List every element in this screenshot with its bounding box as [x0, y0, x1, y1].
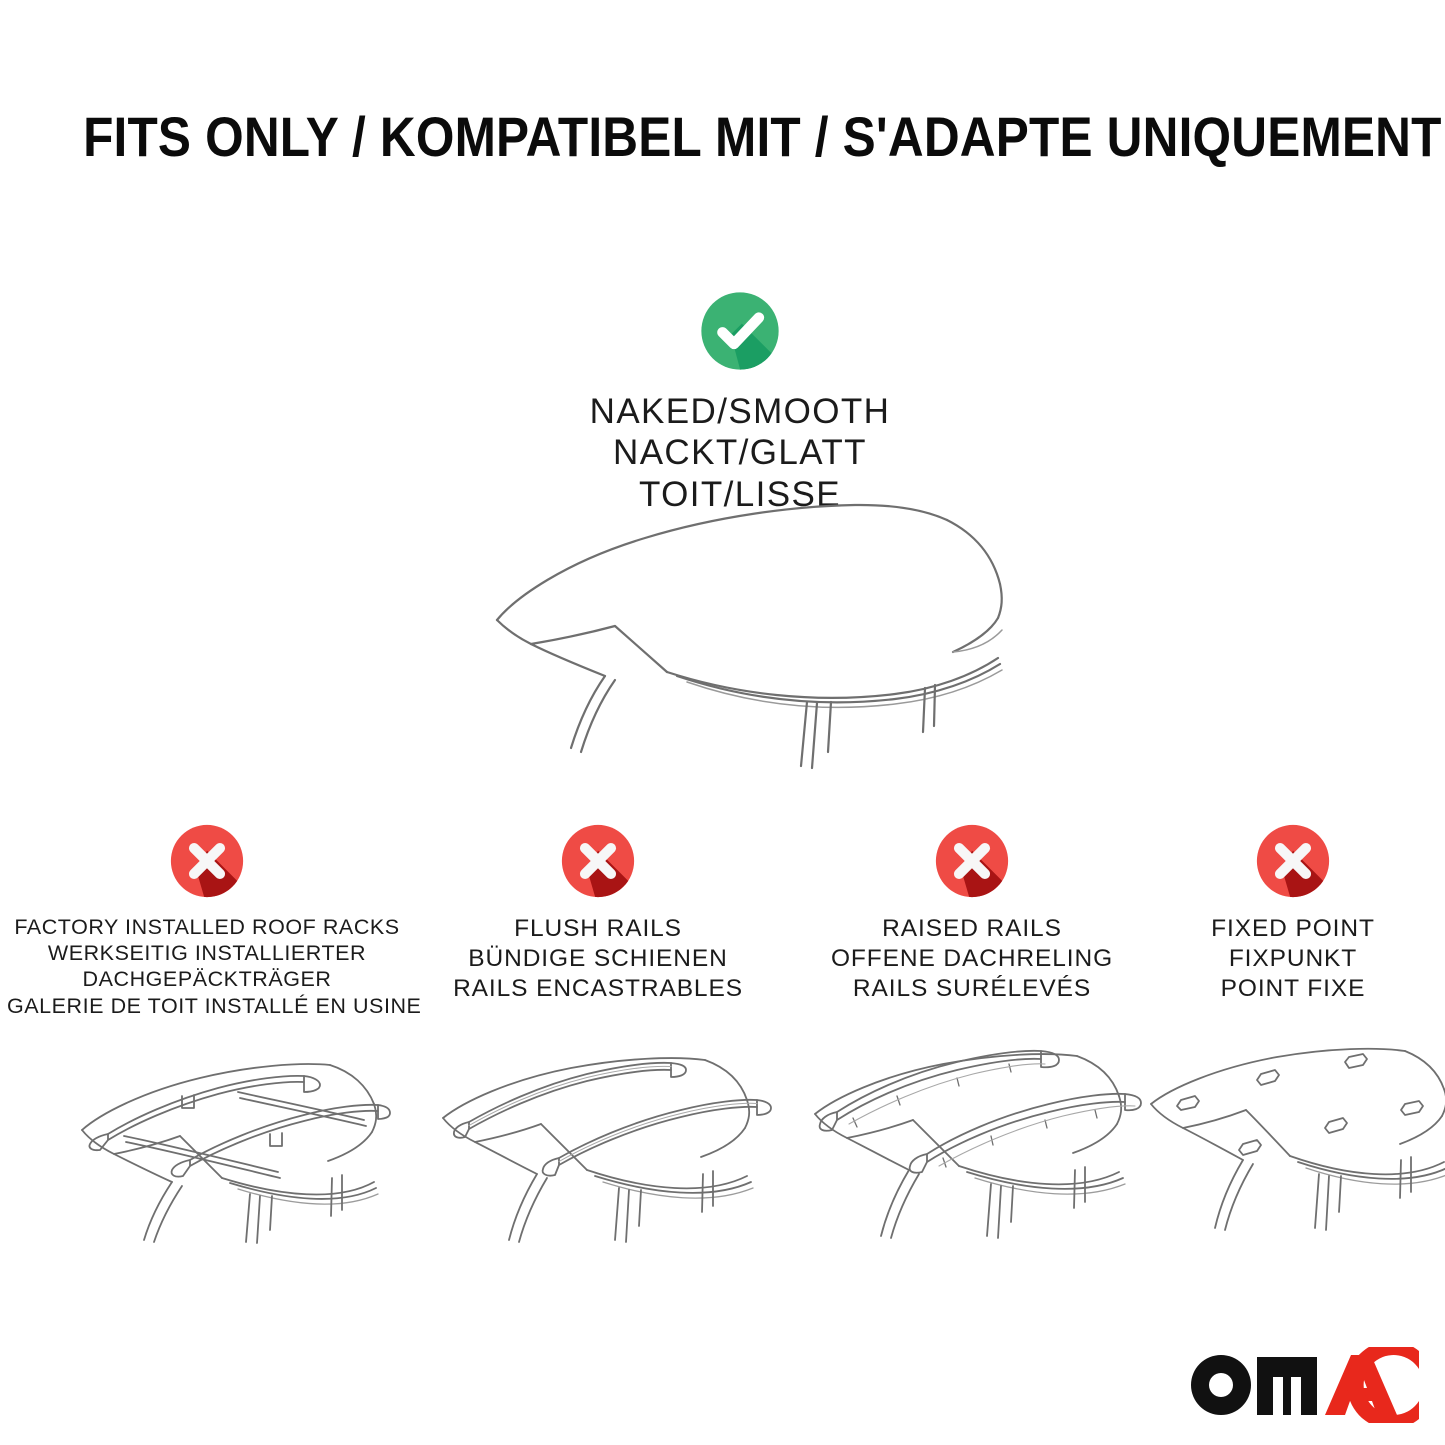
page-title: FITS ONLY / KOMPATIBEL MIT / S'ADAPTE UN…	[83, 104, 1362, 169]
incompatible-line-2: OFFENE DACHRELING	[782, 944, 1162, 974]
incompatible-item-fixed-point: FIXED POINT FIXPUNKT POINT FIXE	[1148, 818, 1438, 1004]
x-circle-icon	[929, 818, 1015, 904]
car-roof-factory-roof-racks-illustration	[22, 1030, 392, 1245]
incompatible-line-1: RAISED RAILS	[782, 914, 1162, 944]
incompatible-line-1: FIXED POINT	[1148, 914, 1438, 944]
incompatible-line-2: BÜNDIGE SCHIENEN	[410, 944, 786, 974]
omac-logo: OMAC	[1185, 1347, 1421, 1423]
x-circle-icon	[164, 818, 250, 904]
incompatible-line-2: FIXPUNKT	[1148, 944, 1438, 974]
x-circle-icon	[555, 818, 641, 904]
incompatible-caption: FACTORY INSTALLED ROOF RACKS WERKSEITIG …	[7, 914, 407, 1019]
logo-letter-o	[1191, 1355, 1251, 1415]
incompatible-caption: RAISED RAILS OFFENE DACHRELING RAILS SUR…	[782, 914, 1162, 1004]
incompatible-line-3: POINT FIXE	[1148, 974, 1438, 1004]
incompatible-line-3: RAILS SURÉLEVÉS	[782, 974, 1162, 1004]
car-roof-naked-smooth-illustration	[455, 480, 1015, 770]
compatible-line-2: NACKT/GLATT	[473, 432, 1007, 473]
incompatible-item-factory-roof-racks: FACTORY INSTALLED ROOF RACKS WERKSEITIG …	[7, 818, 407, 1019]
car-roof-fixed-point-illustration	[1133, 1030, 1445, 1245]
check-circle-icon	[694, 285, 786, 377]
car-roof-flush-rails-illustration	[413, 1030, 783, 1245]
incompatible-line-1: FACTORY INSTALLED ROOF RACKS	[7, 914, 407, 940]
x-circle-icon	[1250, 818, 1336, 904]
incompatible-line-2: WERKSEITIG INSTALLIERTER	[7, 940, 407, 966]
incompatible-section: FACTORY INSTALLED ROOF RACKS WERKSEITIG …	[0, 818, 1445, 1248]
logo-letter-m	[1257, 1357, 1317, 1415]
incompatible-caption: FIXED POINT FIXPUNKT POINT FIXE	[1148, 914, 1438, 1004]
incompatible-item-raised-rails: RAISED RAILS OFFENE DACHRELING RAILS SUR…	[782, 818, 1162, 1004]
incompatible-line-4: GALERIE DE TOIT INSTALLÉ EN USINE	[7, 993, 407, 1019]
incompatible-line-1: FLUSH RAILS	[410, 914, 786, 944]
logo-text: OMAC	[1185, 1347, 1233, 1351]
incompatible-line-3: DACHGEPÄCKTRÄGER	[7, 966, 407, 992]
incompatible-line-3: RAILS ENCASTRABLES	[410, 974, 786, 1004]
car-roof-raised-rails-illustration	[787, 1030, 1157, 1245]
incompatible-caption: FLUSH RAILS BÜNDIGE SCHIENEN RAILS ENCAS…	[410, 914, 786, 1004]
compatible-line-1: NAKED/SMOOTH	[473, 391, 1007, 432]
incompatible-item-flush-rails: FLUSH RAILS BÜNDIGE SCHIENEN RAILS ENCAS…	[410, 818, 786, 1004]
